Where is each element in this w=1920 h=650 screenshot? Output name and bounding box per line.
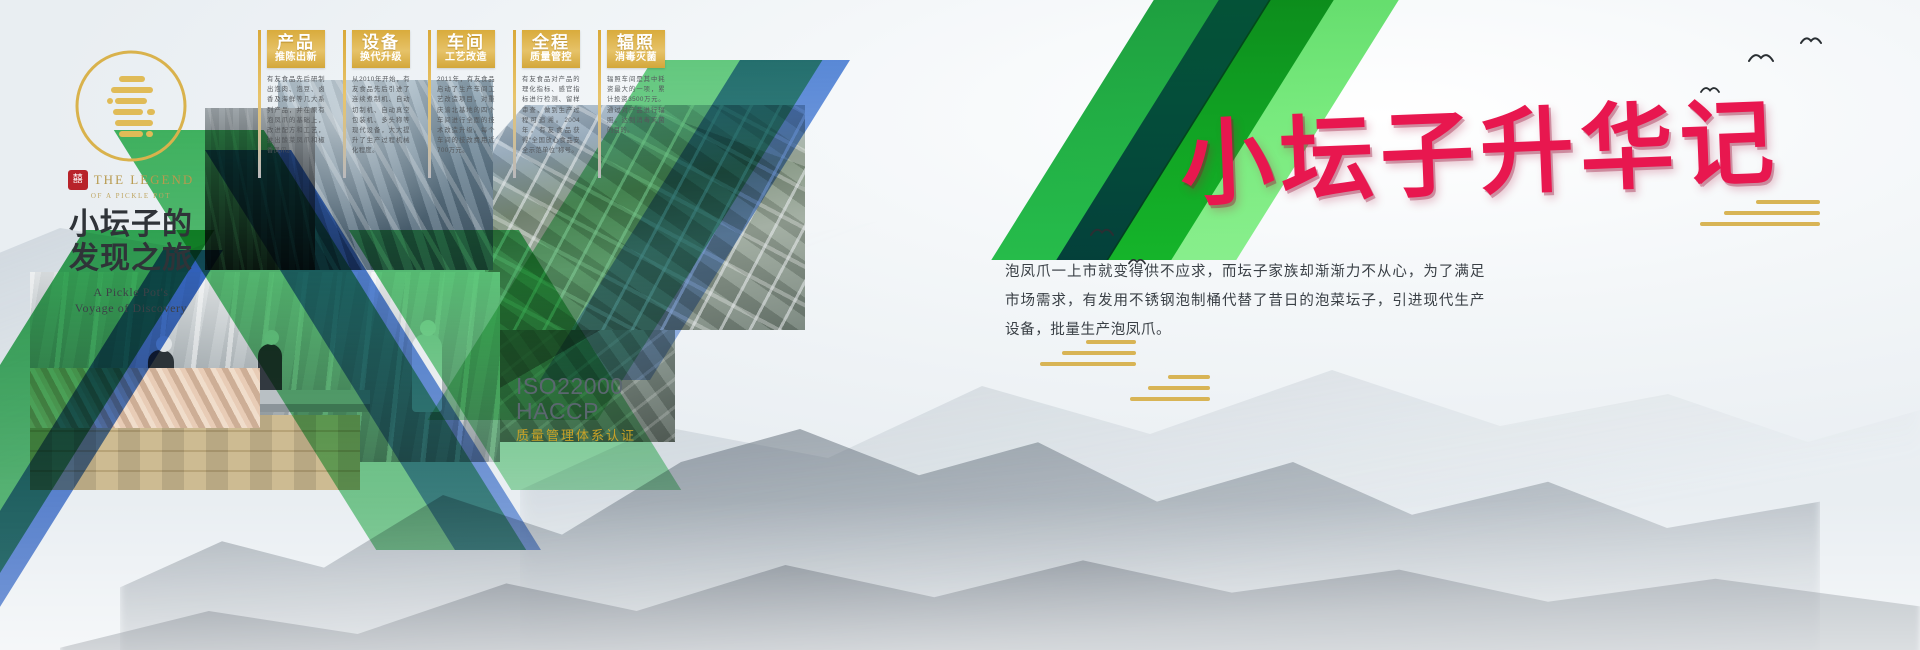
brand-title-cn-line2: 发现之旅 xyxy=(36,242,226,276)
card-keyword: 全程 xyxy=(526,33,576,52)
info-card-list: 产品 推陈出新 有友食品先后研制出泡肉、泡豆、卤香及海鲜等几大系列产品，并在原有… xyxy=(258,30,665,157)
brand-title-cn: 小坛子的 发现之旅 xyxy=(36,208,226,276)
gold-cloud-ornament-icon xyxy=(1130,375,1210,408)
red-seal-stamp-icon: 囍 xyxy=(68,170,88,190)
legend-en-subtext: OF A PICKLE POT xyxy=(36,192,226,200)
brand-title-en-line1: A Pickle Pot's xyxy=(36,284,226,300)
card-body: 2011年，有友食品启动了生产车间工艺改造项目，对重庆渝北基地的四个车间进行全面… xyxy=(437,75,495,157)
flying-bird-icon xyxy=(1748,50,1774,69)
brand-title-cn-line1: 小坛子的 xyxy=(36,208,226,242)
gold-cloud-ornament-icon xyxy=(1040,340,1136,373)
flying-bird-icon xyxy=(1090,225,1114,243)
brand-title-en-line2: Voyage of Discovery xyxy=(36,300,226,316)
info-card-product[interactable]: 产品 推陈出新 有友食品先后研制出泡肉、泡豆、卤香及海鲜等几大系列产品，并在原有… xyxy=(258,30,325,157)
flying-bird-icon xyxy=(1800,33,1822,51)
card-keyword: 产品 xyxy=(271,33,321,52)
info-card-workshop[interactable]: 车间 工艺改造 2011年，有友食品启动了生产车间工艺改造项目，对重庆渝北基地的… xyxy=(428,30,495,157)
card-body: 从2010年开始，有友食品先后引进了连续煮制机、自动切制机、自动真空包装机、多头… xyxy=(352,75,410,157)
card-keyword: 车间 xyxy=(441,33,491,52)
certification-haccp: HACCP xyxy=(516,399,636,424)
seal-emblem-icon xyxy=(73,48,189,164)
certification-iso: ISO22000 xyxy=(516,374,636,399)
flying-bird-icon xyxy=(1128,253,1146,271)
flying-bird-icon xyxy=(1700,82,1720,100)
info-card-irradiation[interactable]: 辐照 消毒灭菌 辐照车间是其中耗资最大的一项，累计投资3500万元。通过对产品进… xyxy=(598,30,665,136)
card-head-quality: 全程 质量管控 xyxy=(522,30,580,68)
body-paragraph: 泡凤爪一上市就变得供不应求，而坛子家族却渐渐力不从心，为了满足市场需求，有发用不… xyxy=(1005,258,1485,345)
certification-block: ISO22000 HACCP 质量管理体系认证 xyxy=(516,374,636,446)
info-card-quality[interactable]: 全程 质量管控 有友食品对产品的理化指标、感官指标进行检测、留样审查，做到生产过… xyxy=(513,30,580,157)
banner-canvas: 囍 THE LEGEND OF A PICKLE POT 小坛子的 发现之旅 A… xyxy=(0,0,1920,650)
legend-en-text: THE LEGEND xyxy=(94,172,195,188)
card-head-product: 产品 推陈出新 xyxy=(267,30,325,68)
legend-wordmark: 囍 THE LEGEND xyxy=(36,170,226,190)
gold-cloud-ornament-icon xyxy=(1700,200,1820,233)
certification-caption: 质量管理体系认证 xyxy=(516,426,636,446)
card-subtitle: 质量管控 xyxy=(526,52,576,64)
info-card-equipment[interactable]: 设备 换代升级 从2010年开始，有友食品先后引进了连续煮制机、自动切制机、自动… xyxy=(343,30,410,157)
brand-title-en: A Pickle Pot's Voyage of Discovery xyxy=(36,284,226,316)
card-subtitle: 推陈出新 xyxy=(271,52,321,64)
card-head-irradiation: 辐照 消毒灭菌 xyxy=(607,30,665,68)
card-body: 辐照车间是其中耗资最大的一项，累计投资3500万元。通过对产品进行辐照，达到消毒… xyxy=(607,75,665,136)
card-body: 有友食品对产品的理化指标、感官指标进行检测、留样审查，做到生产过程可追溯。200… xyxy=(522,75,580,157)
card-head-equipment: 设备 换代升级 xyxy=(352,30,410,68)
brand-lockup: 囍 THE LEGEND OF A PICKLE POT 小坛子的 发现之旅 A… xyxy=(36,48,226,316)
card-head-workshop: 车间 工艺改造 xyxy=(437,30,495,68)
card-subtitle: 工艺改造 xyxy=(441,52,491,64)
card-subtitle: 消毒灭菌 xyxy=(611,52,661,64)
card-keyword: 辐照 xyxy=(611,33,661,52)
card-subtitle: 换代升级 xyxy=(356,52,406,64)
card-keyword: 设备 xyxy=(356,33,406,52)
card-body: 有友食品先后研制出泡肉、泡豆、卤香及海鲜等几大系列产品，并在原有泡凤爪的基础上，… xyxy=(267,75,325,157)
